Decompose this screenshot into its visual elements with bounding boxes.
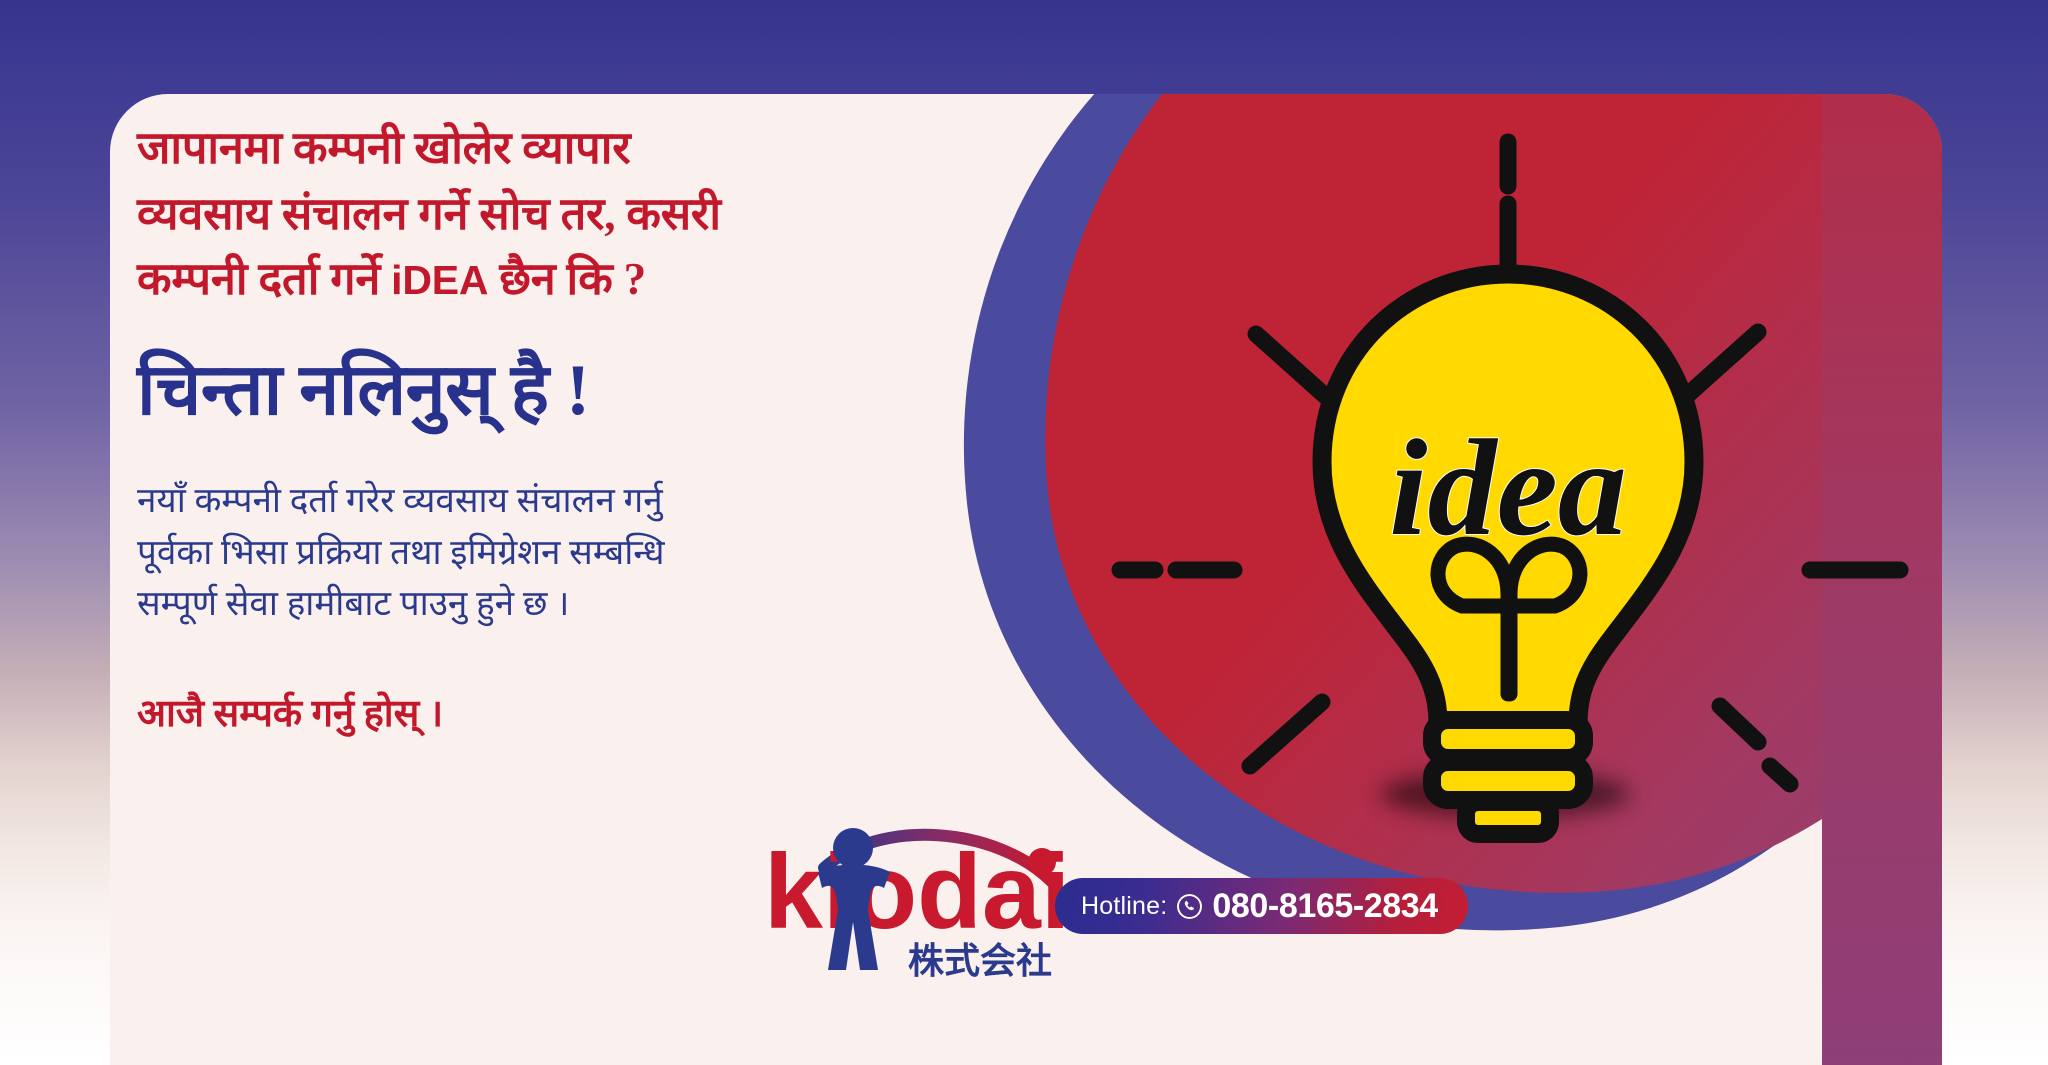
phone-icon: [1176, 893, 1203, 920]
headline-line-3: कम्पनी दर्ता गर्ने iDEA छैन कि ?: [137, 247, 897, 313]
call-to-action-text: आजै सम्पर्क गर्नु होस् ।: [137, 686, 897, 738]
headline-line-1: जापानमा कम्पनी खोलेर व्यापार: [137, 116, 897, 182]
bulb-base: [1432, 720, 1584, 834]
body-line-1: नयाँ कम्पनी दर्ता गरेर व्यवसाय संचालन गर…: [137, 475, 897, 527]
text-column: जापानमा कम्पनी खोलेर व्यापार व्यवसाय संच…: [137, 116, 897, 738]
hotline-badge[interactable]: Hotline: 080-8165-2834: [1055, 878, 1468, 934]
lightbulb-illustration: idea: [1110, 94, 1930, 884]
body-paragraph: नयाँ कम्पनी दर्ता गरेर व्यवसाय संचालन गर…: [137, 475, 897, 630]
logo-wordmark: kiodai: [764, 833, 1070, 951]
logo-subtitle: 株式会社: [908, 940, 1052, 980]
headline-line-2: व्यवसाय संचालन गर्ने सोच तर, कसरी: [137, 182, 897, 248]
headline-line-3-post: छैन कि ?: [488, 254, 646, 304]
hotline-label: Hotline:: [1081, 892, 1167, 921]
bulb-idea-label: idea: [1389, 411, 1627, 564]
headline-idea-word: iDEA: [391, 257, 488, 303]
headline: जापानमा कम्पनी खोलेर व्यापार व्यवसाय संच…: [137, 116, 897, 313]
big-statement: चिन्ता नलिनुस् है !: [137, 347, 897, 435]
body-line-2: पूर्वका भिसा प्रक्रिया तथा इमिग्रेशन सम्…: [137, 527, 897, 579]
logo-i-dot: [1028, 848, 1056, 876]
poster-card: idea जापानमा कम्पनी खोलेर व्यापार व्यवसा…: [110, 94, 1942, 1065]
kiodai-logo: kiodai 株式会社: [760, 810, 1080, 980]
hotline-number: 080-8165-2834: [1212, 887, 1437, 926]
headline-line-3-pre: कम्पनी दर्ता गर्ने: [137, 254, 391, 304]
body-line-3: सम्पूर्ण सेवा हामीबाट पाउनु हुने छ ।: [137, 578, 897, 630]
